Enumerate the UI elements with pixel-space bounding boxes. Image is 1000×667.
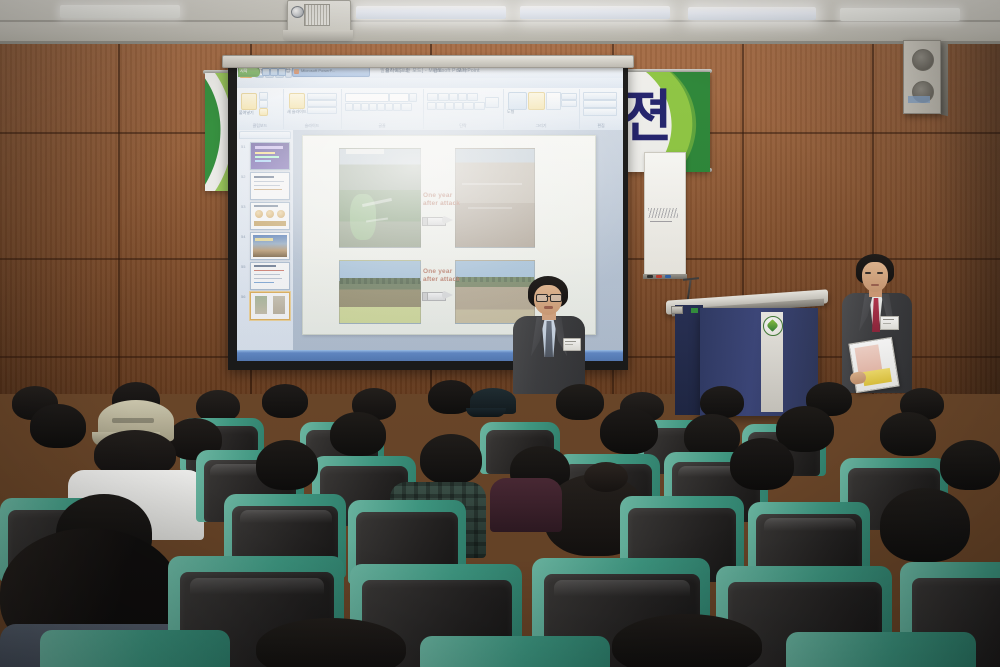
bullets-icon[interactable] bbox=[427, 93, 438, 101]
speaker-cone bbox=[912, 49, 934, 71]
arrange-icon[interactable] bbox=[528, 92, 545, 110]
cap-logo bbox=[112, 418, 154, 423]
thumbnail-slide-54[interactable] bbox=[250, 232, 290, 260]
ceiling-light bbox=[520, 6, 670, 19]
podium-control-panel[interactable] bbox=[671, 306, 683, 314]
tab-review[interactable]: 검토 bbox=[433, 67, 442, 74]
seat-trim bbox=[420, 636, 610, 667]
change-case-icon[interactable] bbox=[393, 103, 401, 111]
justify-icon[interactable] bbox=[454, 102, 463, 110]
font-color-icon[interactable] bbox=[401, 103, 412, 111]
audience-maroon-shirt bbox=[490, 478, 562, 532]
convert-smartart-icon[interactable] bbox=[485, 97, 499, 108]
thumbnail-slide-53[interactable] bbox=[250, 202, 290, 230]
ribbon-group-slides: 새 슬라이드 슬라이드 bbox=[283, 89, 342, 129]
projector-lens bbox=[291, 6, 304, 18]
seat-gloss bbox=[554, 580, 690, 610]
thumbnail-number: 52 bbox=[241, 174, 245, 179]
line-spacing-icon[interactable] bbox=[467, 93, 478, 101]
whiteboard-underline bbox=[650, 221, 672, 222]
paste-icon[interactable] bbox=[241, 93, 257, 110]
replace-button[interactable] bbox=[583, 100, 617, 108]
shadow-icon[interactable] bbox=[369, 103, 377, 111]
audience-head bbox=[730, 438, 794, 490]
pane-tab-slides[interactable] bbox=[239, 131, 291, 139]
align-center-icon[interactable] bbox=[436, 102, 445, 110]
numbering-icon[interactable] bbox=[438, 93, 449, 101]
start-button-label: 시작 bbox=[240, 68, 247, 74]
copy-icon[interactable] bbox=[259, 100, 268, 108]
decrease-indent-icon[interactable] bbox=[449, 93, 458, 101]
thumbnail-slide-52[interactable] bbox=[250, 172, 290, 200]
seat-gloss bbox=[240, 510, 332, 534]
audience-head bbox=[262, 384, 308, 418]
group-label-clipboard: 클립보드 bbox=[237, 123, 283, 129]
increase-indent-icon[interactable] bbox=[458, 93, 467, 101]
badge-text-line bbox=[565, 344, 573, 345]
lecture-hall-scene: 젼 발표자료[호환 모드] - Microsoft PowerPoint 홈 삽… bbox=[0, 0, 1000, 667]
find-button[interactable] bbox=[583, 92, 617, 100]
delete-slide-button[interactable] bbox=[307, 107, 337, 114]
speaker-label bbox=[908, 96, 930, 103]
thumbnail-number: 53 bbox=[241, 204, 245, 209]
format-painter-icon[interactable] bbox=[259, 108, 268, 116]
marker-blue bbox=[665, 275, 671, 278]
attendee-eye bbox=[877, 272, 883, 274]
group-label-drawing: 그리기 bbox=[503, 123, 579, 129]
podium-green-plate bbox=[691, 308, 698, 313]
audience-seating bbox=[0, 378, 1000, 667]
badge-text-line bbox=[883, 319, 894, 320]
align-right-icon[interactable] bbox=[445, 102, 454, 110]
ribbon: 붙여넣기 클립보드 새 슬라이드 슬라이드 bbox=[237, 88, 623, 131]
audience-head bbox=[940, 440, 1000, 490]
ribbon-group-font: 글꼴 bbox=[341, 89, 424, 129]
marker-red bbox=[656, 275, 662, 278]
ribbon-group-drawing: 도형 그리기 bbox=[503, 89, 580, 129]
shapes-gallery-icon[interactable] bbox=[508, 92, 527, 110]
ribbon-group-clipboard: 붙여넣기 클립보드 bbox=[237, 89, 284, 129]
powerpoint-icon bbox=[294, 69, 299, 74]
thumbnail-number: 55 bbox=[241, 264, 245, 269]
shape-fill-button[interactable] bbox=[561, 93, 577, 100]
thumbnail-slide-55[interactable] bbox=[250, 262, 290, 290]
seat-gloss bbox=[190, 578, 324, 608]
thumbnail-number: 51 bbox=[241, 144, 245, 149]
glasses-bridge bbox=[546, 296, 550, 297]
whiteboard-writing bbox=[648, 208, 678, 218]
hair-bun bbox=[584, 462, 628, 492]
quick-styles-icon[interactable] bbox=[546, 92, 561, 110]
seat-gloss bbox=[764, 518, 856, 542]
slide-image-aerial-forest-before bbox=[339, 148, 421, 248]
badge-text-line bbox=[883, 323, 891, 324]
group-label-font: 글꼴 bbox=[341, 123, 423, 129]
bold-icon[interactable] bbox=[345, 103, 353, 111]
banner-text: 젼 bbox=[621, 90, 673, 146]
attendee-face bbox=[862, 262, 888, 292]
projector-body bbox=[283, 30, 353, 41]
font-name-combo[interactable] bbox=[345, 93, 389, 102]
projector-vent bbox=[304, 4, 330, 26]
presenter-speaker bbox=[505, 276, 593, 394]
cut-icon[interactable] bbox=[259, 92, 268, 100]
seat-trim bbox=[40, 630, 230, 667]
slide-image-ground-forest-before bbox=[339, 260, 421, 324]
reset-button[interactable] bbox=[307, 100, 337, 107]
thumbnail-slide-51[interactable] bbox=[250, 142, 290, 170]
strikethrough-icon[interactable] bbox=[377, 103, 385, 111]
audience-head bbox=[256, 440, 318, 490]
select-button[interactable] bbox=[583, 108, 617, 116]
cap-brim bbox=[466, 408, 506, 417]
tab-slideshow[interactable]: 슬라이드 쇼 bbox=[385, 67, 409, 74]
text-direction-icon[interactable] bbox=[474, 102, 485, 110]
foreground-head bbox=[612, 614, 762, 667]
ribbon-group-editing: 편집 bbox=[579, 89, 623, 129]
ceiling-light bbox=[688, 7, 816, 20]
presenter-mouth bbox=[544, 306, 553, 309]
layout-button[interactable] bbox=[307, 93, 337, 100]
shapes-label: 도형 bbox=[507, 109, 514, 115]
underline-icon[interactable] bbox=[361, 103, 369, 111]
seat-trim bbox=[786, 632, 976, 667]
slide-image-aerial-barren-after bbox=[455, 148, 535, 248]
attendee-eye bbox=[865, 272, 871, 274]
quicklaunch-icon-1[interactable] bbox=[262, 68, 270, 76]
slide-arrow-top bbox=[422, 215, 456, 226]
audience-head bbox=[30, 404, 86, 448]
thumbnail-slide-56-selected[interactable] bbox=[250, 292, 290, 320]
columns-icon[interactable] bbox=[463, 102, 474, 110]
marker-black bbox=[647, 275, 653, 278]
group-label-slides: 슬라이드 bbox=[283, 123, 341, 129]
audience-head bbox=[330, 412, 386, 456]
thumbnail-number: 56 bbox=[241, 294, 245, 299]
audience-head bbox=[700, 386, 744, 418]
audience-head bbox=[880, 412, 936, 456]
slide-arrow-bottom bbox=[422, 290, 456, 301]
new-slide-label: 새 슬라이드 bbox=[287, 109, 307, 115]
group-label-editing: 편집 bbox=[579, 123, 623, 129]
slide-caption-top: One year after attack bbox=[423, 192, 460, 207]
group-label-paragraph: 단락 bbox=[423, 123, 503, 129]
font-size-combo[interactable] bbox=[389, 93, 409, 102]
ribbon-group-paragraph: 단락 bbox=[423, 89, 504, 129]
paste-label: 붙여넣기 bbox=[239, 110, 254, 116]
wall-seam bbox=[118, 44, 120, 394]
audience-head bbox=[600, 408, 658, 454]
slide-caption-bottom: One year after attack bbox=[423, 268, 460, 283]
quicklaunch-icon-3[interactable] bbox=[278, 68, 286, 76]
ceiling-light bbox=[60, 5, 180, 18]
quicklaunch-icon-2[interactable] bbox=[270, 68, 278, 76]
glasses-icon bbox=[550, 294, 562, 302]
badge-text-line bbox=[565, 341, 576, 342]
audience-head bbox=[420, 434, 482, 484]
character-spacing-icon[interactable] bbox=[385, 103, 393, 111]
tab-view[interactable]: 보기 bbox=[457, 67, 466, 74]
audience-head bbox=[556, 384, 604, 420]
increase-font-icon[interactable] bbox=[409, 93, 417, 102]
thumbnail-number: 54 bbox=[241, 234, 245, 239]
italic-icon[interactable] bbox=[353, 103, 361, 111]
audience-head bbox=[880, 488, 970, 562]
taskbar-task-label: Microsoft PowerP... bbox=[301, 68, 335, 73]
shape-outline-button[interactable] bbox=[561, 100, 577, 107]
projection-screen-roller bbox=[222, 55, 634, 68]
align-left-icon[interactable] bbox=[427, 102, 436, 110]
new-slide-icon[interactable] bbox=[289, 93, 305, 109]
attendee-mouth bbox=[871, 284, 879, 286]
ceiling-light bbox=[356, 6, 506, 19]
ceiling-light bbox=[840, 8, 960, 21]
